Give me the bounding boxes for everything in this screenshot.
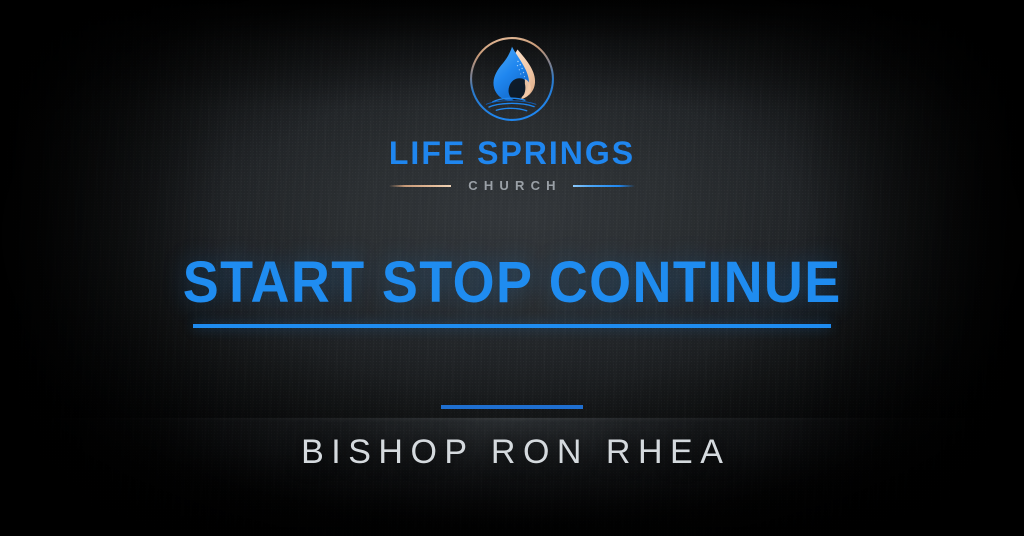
logo-rule-right: [573, 185, 635, 187]
logo-subtitle-row: CHURCH: [389, 179, 635, 192]
speaker-name: BISHOP RON RHEA: [294, 435, 731, 469]
slide-content: LIFE SPRINGS CHURCH START STOP CONTINUE …: [0, 0, 1024, 536]
slide-title: START STOP CONTINUE: [183, 254, 842, 312]
section-divider: [441, 405, 583, 409]
logo-subword: CHURCH: [462, 179, 562, 192]
presentation-slide: LIFE SPRINGS CHURCH START STOP CONTINUE …: [0, 0, 1024, 536]
logo-wordmark: LIFE SPRINGS: [389, 137, 635, 169]
headline-block: START STOP CONTINUE: [158, 254, 866, 328]
water-droplet-flame-emblem: [466, 33, 558, 125]
slide-title-underline: [193, 324, 831, 328]
logo-rule-left: [389, 185, 451, 187]
church-logo: LIFE SPRINGS CHURCH: [389, 33, 635, 192]
